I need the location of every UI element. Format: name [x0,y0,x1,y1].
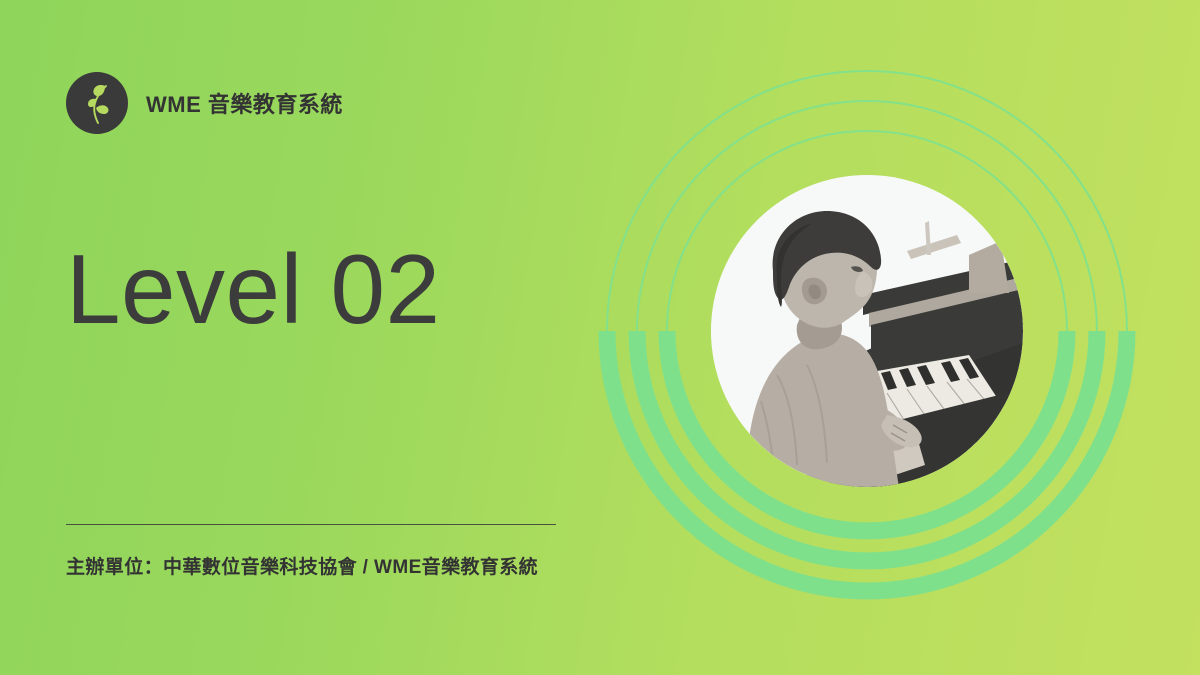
brand-lockup: WME 音樂教育系統 [66,72,343,134]
organizer-text: 主辦單位：中華數位音樂科技協會 / WME音樂教育系統 [66,552,556,579]
hero-photo [711,175,1023,487]
footer: 主辦單位：中華數位音樂科技協會 / WME音樂教育系統 [66,524,556,579]
sprout-leaf-icon [66,72,128,134]
brand-name: WME 音樂教育系統 [146,87,343,119]
page-title: Level 02 [66,237,441,343]
presentation-slide: WME 音樂教育系統 Level 02 主辦單位：中華數位音樂科技協會 / WM… [0,0,1200,675]
footer-divider [66,524,556,525]
